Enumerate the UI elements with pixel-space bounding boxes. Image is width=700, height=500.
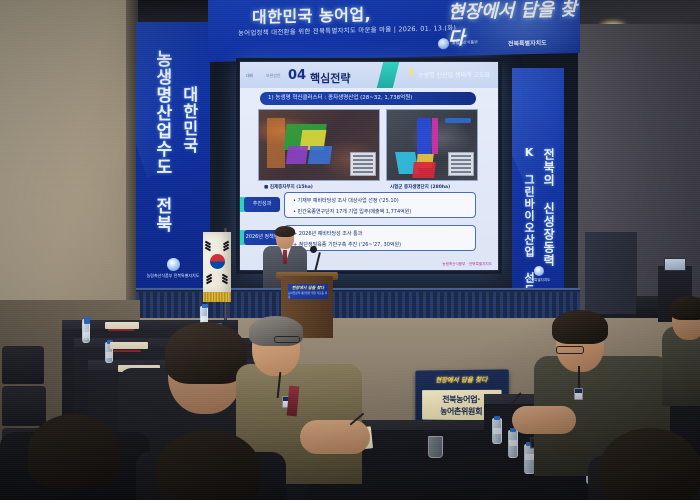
banner-right-sheen bbox=[512, 68, 564, 210]
podium-sign-line2: 농어업정책 대전환을 위한 타운홀 미팅 bbox=[288, 291, 328, 299]
map-left-caption: ■ 김제종자부지 (15ha) bbox=[264, 184, 313, 190]
speaker-box bbox=[636, 296, 658, 318]
attendee-hair bbox=[552, 310, 608, 344]
microphone-icon bbox=[310, 246, 317, 253]
government-emblem-icon bbox=[534, 266, 544, 276]
slide-section-title: 농생명 신산업 생태계 고도화 bbox=[418, 70, 490, 79]
slide-section-number: 3 bbox=[408, 68, 414, 77]
banner-left: 농생명산업수도 전북 대한민국 농림축산식품부 전북특별자치도 bbox=[136, 22, 210, 290]
slide-title: 핵심전략 bbox=[310, 70, 350, 86]
name-badge bbox=[574, 388, 583, 400]
flag-fringe bbox=[203, 292, 231, 302]
banner-top-province: 전북특별자치도 bbox=[508, 38, 547, 48]
side-door[interactable] bbox=[585, 232, 637, 314]
map-right-caption: 시험군 종자생명단지 (280ha) bbox=[390, 184, 450, 190]
banner-left-line2: 대한민국 bbox=[180, 86, 197, 154]
banner-right-logo: 전북특별자치도 bbox=[518, 266, 560, 283]
map-zone-overlay bbox=[286, 146, 309, 164]
banner-left-logo-name: 농림축산식품부 bbox=[147, 273, 173, 278]
map-legend bbox=[350, 152, 376, 176]
banner-top-emblem: 농림축산식품부 bbox=[438, 37, 478, 49]
attendee-hair bbox=[156, 430, 260, 500]
map-panel-right bbox=[386, 109, 478, 181]
attendee-hair bbox=[28, 414, 120, 488]
slide-header: 대비 보완방안 04 핵심전략 3 농생명 신산업 생태계 고도화 bbox=[240, 62, 498, 88]
slide-tick-left: 대비 bbox=[246, 73, 253, 79]
slide-tag-achievements: 추진성과 bbox=[244, 197, 280, 212]
map-zone-overlay bbox=[308, 146, 333, 164]
banner-left-line1: 농생명산업수도 전북 bbox=[152, 50, 170, 233]
attendee-hands bbox=[512, 406, 576, 434]
map-legend bbox=[448, 152, 474, 176]
banner-top-emblem-name: 농림축산식품부 bbox=[452, 41, 478, 46]
attendee-hair bbox=[600, 428, 700, 500]
attendee-hair bbox=[670, 296, 700, 320]
map-zone-overlay bbox=[432, 118, 438, 154]
slide-footer-note: 농림축산식품부 · 전북특별자치도 bbox=[442, 262, 492, 267]
government-emblem-icon bbox=[438, 38, 449, 49]
left-wall bbox=[0, 0, 136, 330]
slide-bullet-box-achievements: • 기재부 예비타당성 조사 대상사업 선정 ('25.10) • 민간육종연구… bbox=[284, 192, 476, 218]
map-zone-overlay bbox=[267, 118, 285, 168]
banner-left-logo-sub: 전북특별자치도 bbox=[174, 273, 200, 278]
banner-left-logo: 농림축산식품부 전북특별자치도 bbox=[146, 258, 200, 278]
placard-name-line2: 농어촌위원회 bbox=[440, 405, 482, 416]
map-zone-overlay bbox=[412, 162, 436, 178]
placard-name-line1: 전북농어업· bbox=[442, 393, 480, 404]
slide-subtitle-pill: 1) 농생명 혁신클러스터 : 종자생명산업 (28~32, 1,738억원) bbox=[260, 92, 476, 105]
attendee-hands bbox=[300, 420, 370, 454]
pen[interactable] bbox=[113, 350, 141, 352]
drinking-glass[interactable] bbox=[428, 436, 443, 458]
banner-right: 전북의 신성장동력 K 그린바이오산업 선도 전북특별자치도 bbox=[512, 68, 564, 298]
speaker-tie bbox=[283, 250, 287, 264]
banner-right-logo-name: 전북특별자치도 bbox=[528, 278, 551, 282]
banner-top: 대한민국 농어업, 현장에서 답을 찾다 농어업정책 대전환을 위한 전북특별자… bbox=[208, 0, 580, 62]
conference-room-photo: 농생명산업수도 전북 대한민국 농림축산식품부 전북특별자치도 대한민국 농어업… bbox=[0, 0, 700, 500]
map-road-label bbox=[445, 118, 471, 123]
attendee-hair bbox=[165, 322, 247, 384]
korean-flag-icon bbox=[203, 232, 231, 294]
bullet-item: + 첨단정밀육종 기반구축 추진 ('26~'27, 30억원) bbox=[293, 241, 475, 248]
eyeglasses-icon bbox=[556, 346, 584, 354]
bullet-item: + 2026년 예비타당성 조사 통과 bbox=[293, 230, 475, 237]
map-panel-left bbox=[258, 109, 380, 181]
chair[interactable] bbox=[2, 346, 44, 384]
pen[interactable] bbox=[108, 329, 134, 331]
water-bottle[interactable] bbox=[508, 430, 518, 458]
government-emblem-icon bbox=[167, 258, 180, 271]
bullet-item: • 기재부 예비타당성 조사 대상사업 선정 ('25.10) bbox=[293, 197, 475, 204]
chair[interactable] bbox=[2, 386, 46, 426]
water-bottle[interactable] bbox=[492, 418, 502, 444]
notepad[interactable] bbox=[105, 322, 139, 329]
monitor-screen bbox=[664, 258, 686, 271]
notepad[interactable] bbox=[110, 342, 148, 349]
bullet-item: • 민간육종연구단지 17개 기업 입주(매출액 1,774억원) bbox=[293, 208, 475, 215]
eyeglasses-icon bbox=[274, 336, 300, 343]
water-bottle[interactable] bbox=[82, 322, 90, 343]
banner-right-line1: 전북의 신성장동력 bbox=[542, 148, 555, 267]
taeguk-symbol bbox=[210, 254, 225, 269]
placard-logo: 현장에서 답을 찾다 bbox=[423, 374, 500, 385]
podium-sign: 현장에서 답을 찾다 농어업정책 대전환을 위한 타운홀 미팅 bbox=[288, 284, 328, 299]
slide-number: 04 bbox=[288, 68, 306, 83]
speaker-hair bbox=[275, 226, 295, 237]
slide-tick-left2: 보완방안 bbox=[266, 73, 281, 79]
lanyard bbox=[578, 366, 580, 390]
